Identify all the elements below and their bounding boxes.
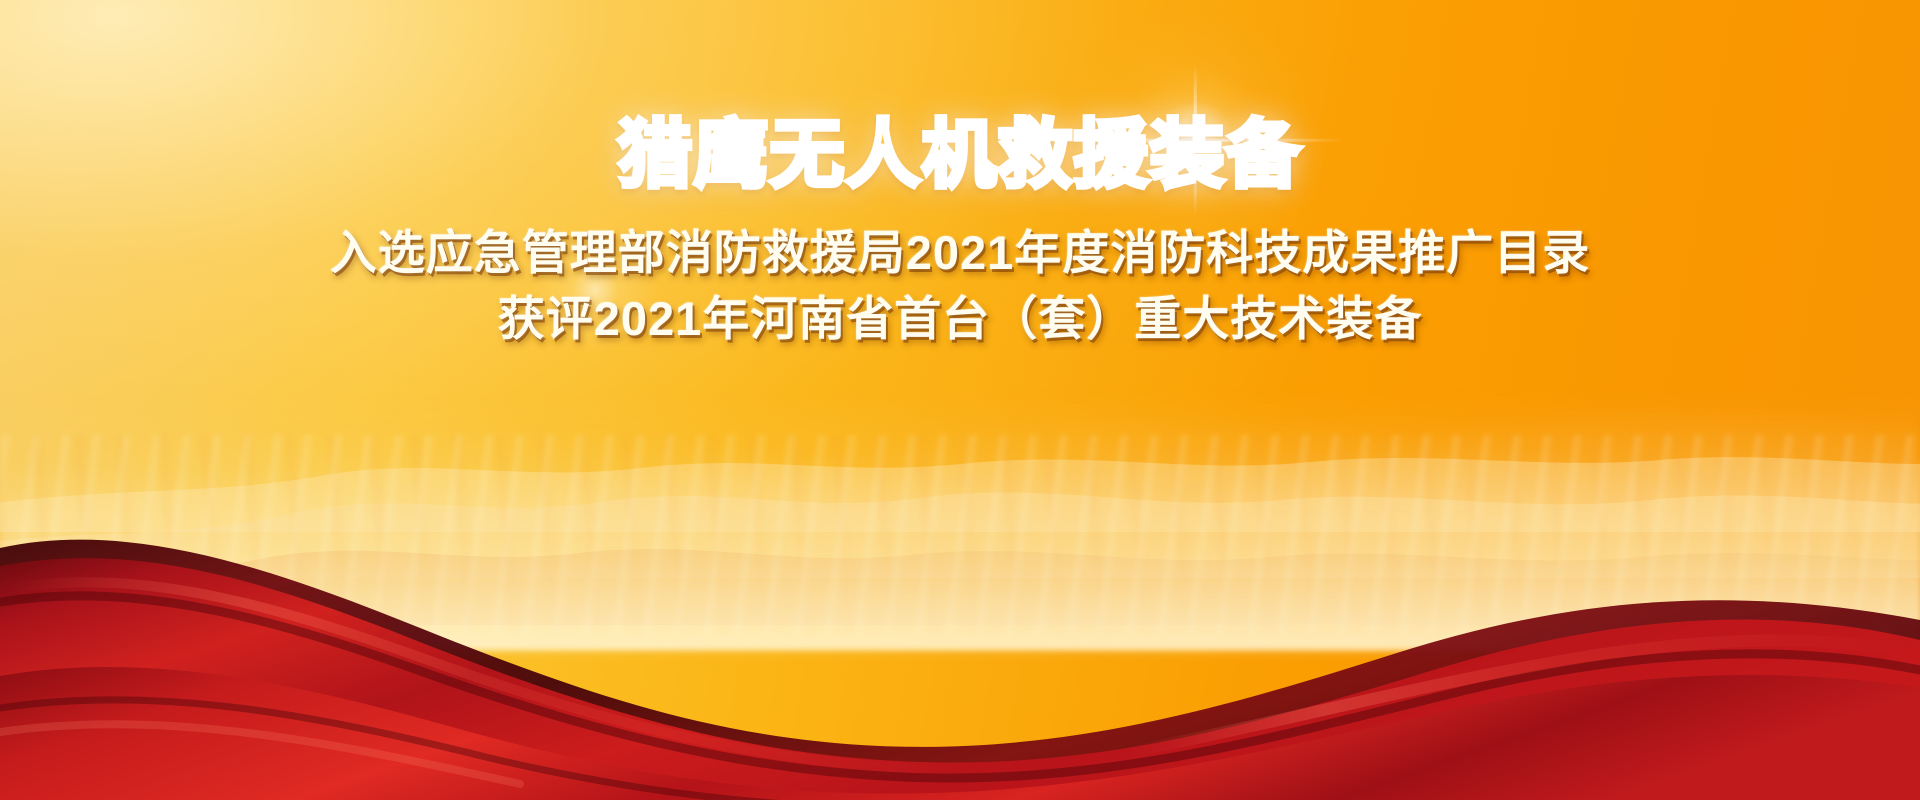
promo-banner: 猎鹰无人机救援装备 入选应急管理部消防救援局2021年度消防科技成果推广目录 获… [0, 0, 1920, 800]
banner-subtitle-group: 入选应急管理部消防救援局2021年度消防科技成果推广目录 获评2021年河南省首… [0, 220, 1920, 352]
banner-subtitle-line-1: 入选应急管理部消防救援局2021年度消防科技成果推广目录 [0, 220, 1920, 286]
red-silk-ribbon [0, 470, 1920, 800]
banner-subtitle-line-2: 获评2021年河南省首台（套）重大技术装备 [0, 286, 1920, 352]
banner-main-title: 猎鹰无人机救援装备 [0, 118, 1920, 192]
banner-text-block: 猎鹰无人机救援装备 入选应急管理部消防救援局2021年度消防科技成果推广目录 获… [0, 0, 1920, 352]
